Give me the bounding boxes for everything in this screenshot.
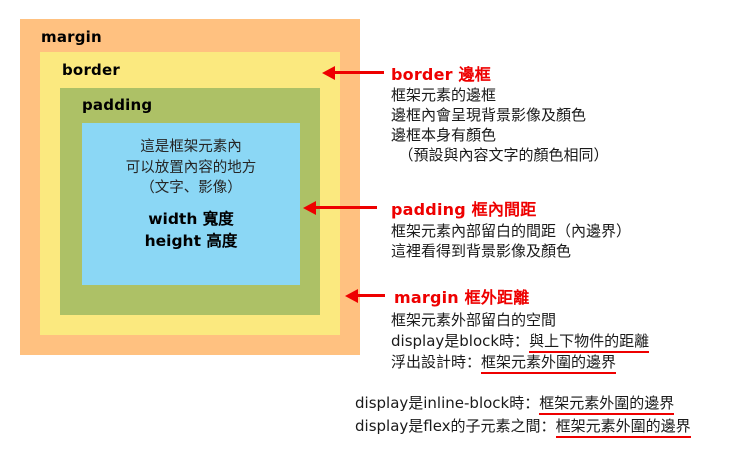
callout-margin-line-2-prefix: display是block時： <box>391 332 529 350</box>
callout-border-line-3: 邊框本身有顏色 <box>391 128 496 143</box>
content-line-1: 這是框架元素內 <box>82 137 300 158</box>
footer-line-1: display是inline-block時：框架元素外圍的邊界 <box>355 396 674 411</box>
footer-line-1-underlined: 框架元素外圍的邊界 <box>539 394 674 415</box>
callout-margin-line-2: display是block時：與上下物件的距離 <box>391 334 649 349</box>
margin-arrow-icon <box>357 294 385 297</box>
footer-line-1-prefix: display是inline-block時： <box>355 394 539 412</box>
margin-label: margin <box>41 28 102 46</box>
content-line-2: 可以放置內容的地方 <box>82 158 300 179</box>
content-text-block: 這是框架元素內 可以放置內容的地方 （文字、影像） width 寬度 heigh… <box>82 137 300 252</box>
callout-margin-line-3-underlined: 框架元素外圍的邊界 <box>481 353 616 374</box>
footer-line-2-prefix: display是flex的子元素之間： <box>355 417 556 435</box>
callout-border-line-2: 邊框內會呈現背景影像及顏色 <box>391 108 586 123</box>
callout-border-line-4: （預設與內容文字的顏色相同） <box>391 148 609 163</box>
callout-padding-line-1: 框架元素內部留白的間距（內邊界） <box>391 224 631 239</box>
callout-heading-padding: padding 框內間距 <box>391 196 536 220</box>
footer-line-2-underlined: 框架元素外圍的邊界 <box>556 417 691 438</box>
callout-margin-line-3-prefix: 浮出設計時： <box>391 353 481 371</box>
content-height-label: height 高度 <box>82 230 300 252</box>
border-label: border <box>62 61 120 79</box>
callout-margin-line-3: 浮出設計時：框架元素外圍的邊界 <box>391 355 616 370</box>
box-model-diagram: margin border padding 這是框架元素內 可以放置內容的地方 … <box>20 19 360 355</box>
callout-margin-line-2-underlined: 與上下物件的距離 <box>529 332 649 353</box>
callout-padding-line-2: 這裡看得到背景影像及顏色 <box>391 244 571 259</box>
callout-heading-border: border 邊框 <box>391 61 491 85</box>
callout-heading-margin: margin 框外距離 <box>394 284 529 308</box>
padding-label: padding <box>82 96 152 114</box>
padding-arrow-icon <box>315 206 377 209</box>
content-line-3: （文字、影像） <box>82 178 300 199</box>
footer-line-2: display是flex的子元素之間：框架元素外圍的邊界 <box>355 419 691 434</box>
callout-border-line-1: 框架元素的邊框 <box>391 88 496 103</box>
border-arrow-icon <box>334 71 384 74</box>
content-width-label: width 寬度 <box>82 208 300 230</box>
callout-margin-line-1: 框架元素外部留白的空間 <box>391 313 556 328</box>
